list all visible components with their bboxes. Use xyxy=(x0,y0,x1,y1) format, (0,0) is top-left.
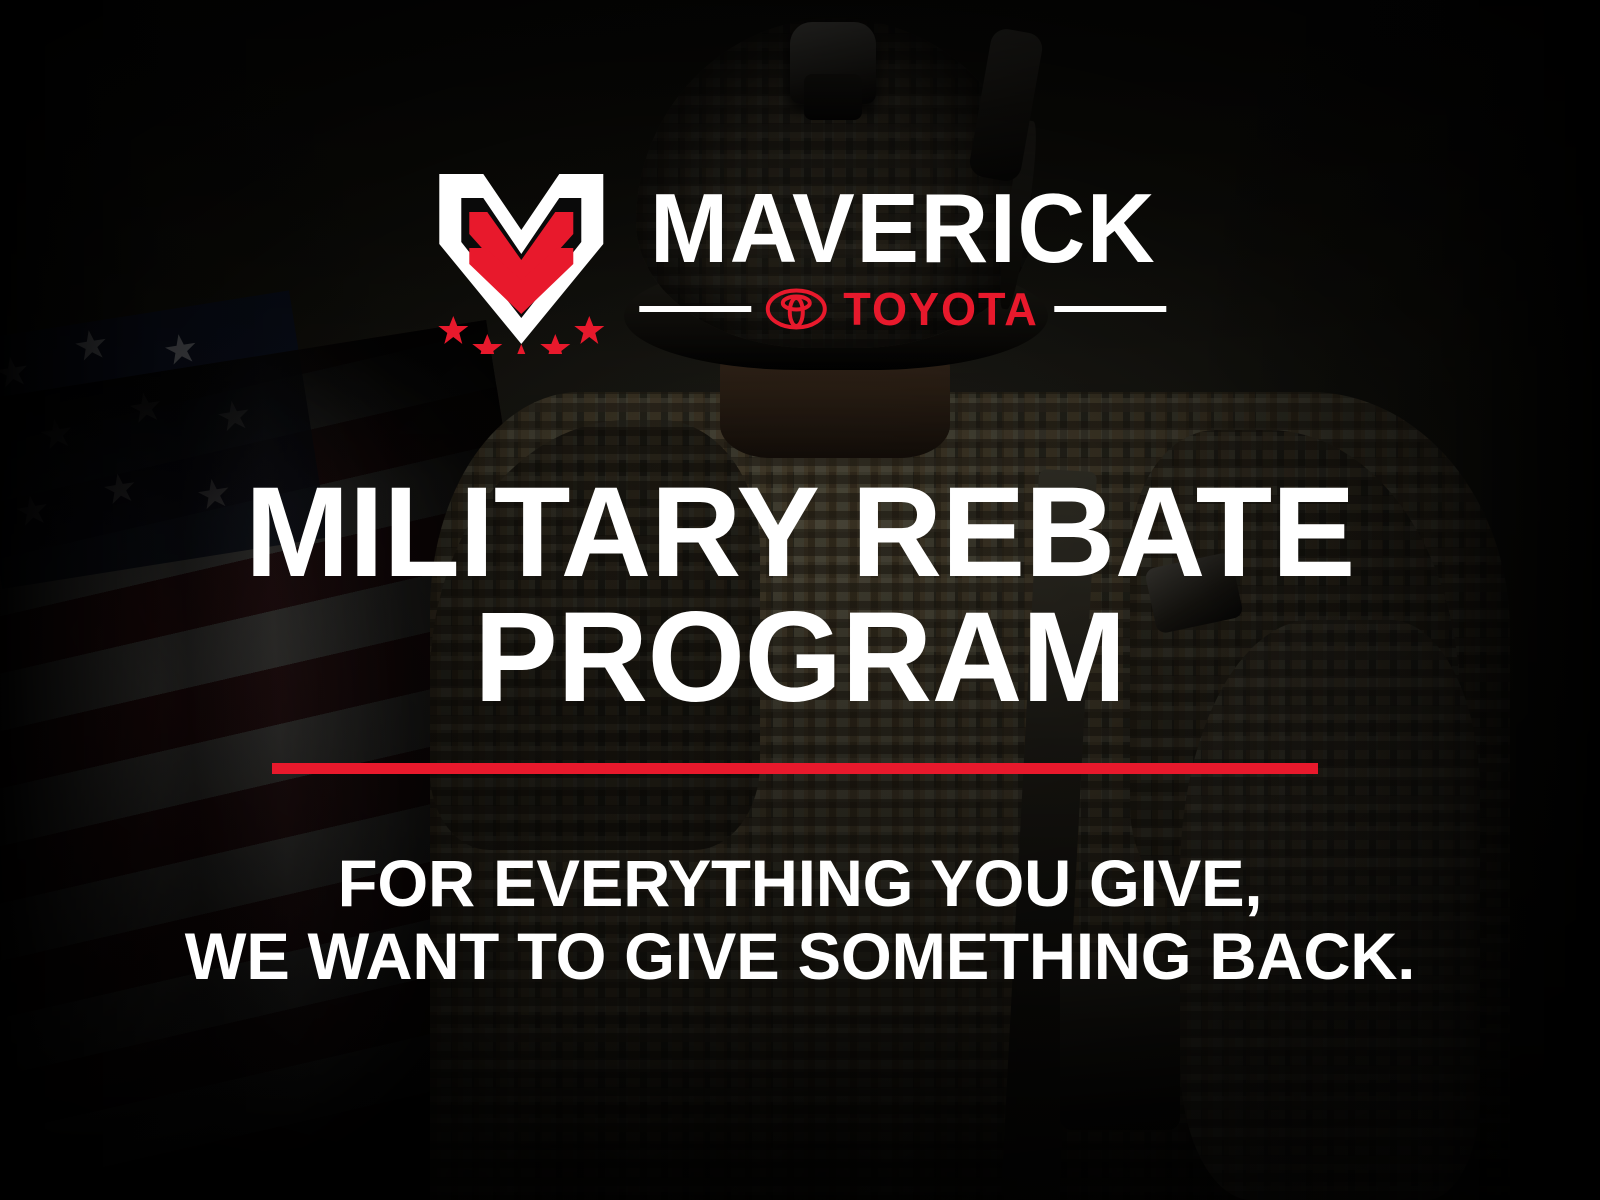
toyota-rule-right xyxy=(1055,306,1167,312)
subheadline-line-1: FOR EVERYTHING YOU GIVE, xyxy=(185,847,1416,920)
subheadline-line-2: WE WANT TO GIVE SOMETHING BACK. xyxy=(185,920,1416,993)
toyota-brand-row: TOYOTA xyxy=(639,286,1166,332)
subheadline: FOR EVERYTHING YOU GIVE, WE WANT TO GIVE… xyxy=(179,847,1422,992)
logo-wordmark-block: MAVERICK TOYOTA xyxy=(639,190,1166,332)
toyota-rule-left xyxy=(639,306,751,312)
headline-line-2: PROGRAM xyxy=(245,595,1355,720)
toyota-wordmark: TOYOTA xyxy=(843,286,1038,332)
logo-wordmark-maverick: MAVERICK xyxy=(650,190,1156,266)
banner-content: MAVERICK TOYOTA xyxy=(0,0,1600,1200)
red-divider-rule xyxy=(272,763,1318,774)
page-title: MILITARY REBATE PROGRAM xyxy=(234,470,1367,721)
maverick-chevron-shield-icon xyxy=(433,168,609,354)
toyota-oval-emblem-icon xyxy=(765,288,827,330)
maverick-toyota-logo[interactable]: MAVERICK TOYOTA xyxy=(433,168,1166,354)
headline-line-1: MILITARY REBATE xyxy=(245,470,1355,595)
hero-banner: ★ ★ ★ ★ ★ ★ ★ ★ ★ xyxy=(0,0,1600,1200)
